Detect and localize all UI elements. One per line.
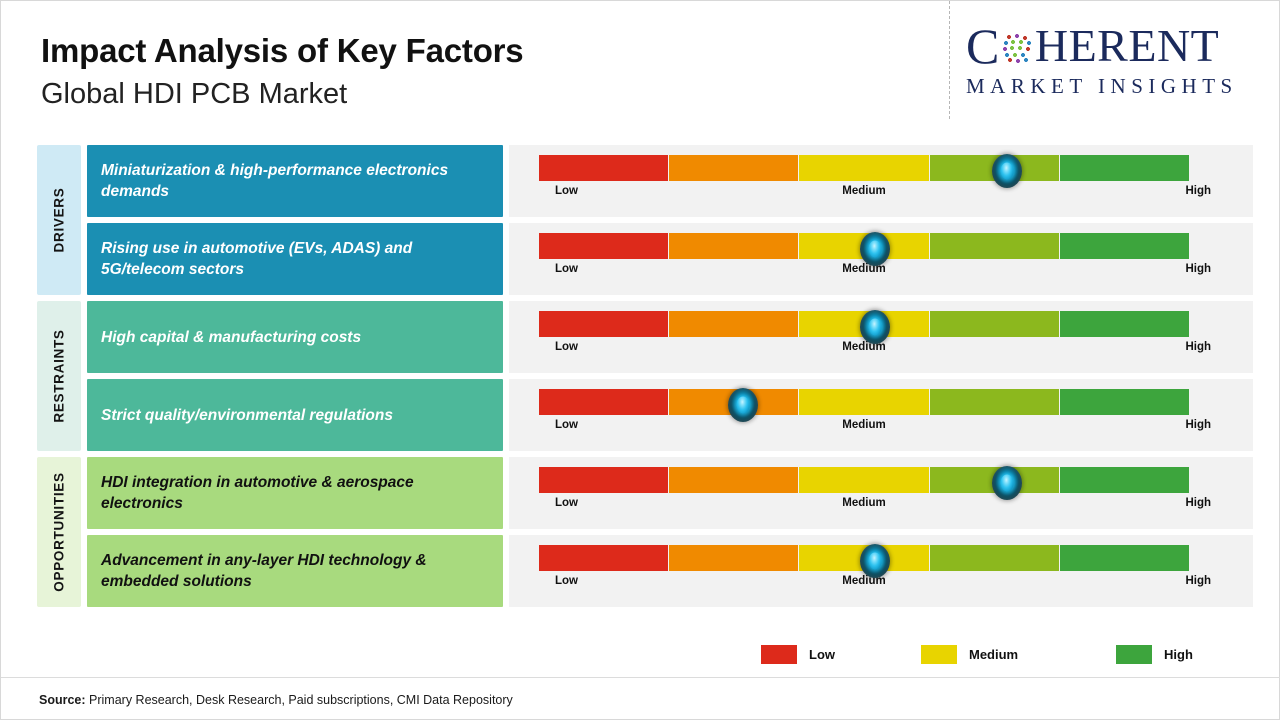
- category-label-opportunities: OPPORTUNITIES: [52, 472, 67, 591]
- legend-swatch-low: [761, 645, 797, 664]
- chart-legend: Low Medium High: [761, 645, 1221, 671]
- footer-divider: [1, 677, 1280, 678]
- segment-high: [1060, 545, 1189, 571]
- factor-box[interactable]: Strict quality/environmental regulations: [87, 379, 503, 451]
- legend-label-medium: Medium: [969, 647, 1018, 662]
- segment-medium-high: [930, 311, 1059, 337]
- segment-low: [539, 389, 668, 415]
- impact-marker[interactable]: [728, 388, 758, 422]
- legend-item-low: Low: [761, 645, 835, 664]
- source-text: Primary Research, Desk Research, Paid su…: [86, 693, 513, 707]
- page-subtitle: Global HDI PCB Market: [41, 73, 523, 115]
- scale-tick-row: Low Medium High: [539, 185, 1229, 203]
- impact-marker[interactable]: [992, 154, 1022, 188]
- legend-label-low: Low: [809, 647, 835, 662]
- segment-medium: [799, 467, 928, 493]
- factor-label: Advancement in any-layer HDI technology …: [101, 550, 489, 592]
- impact-bar-track: [539, 467, 1189, 493]
- source-label: Source:: [39, 693, 86, 707]
- logo-tagline: MARKET INSIGHTS: [966, 74, 1266, 99]
- segment-medium: [799, 155, 928, 181]
- segment-low-medium: [669, 233, 798, 259]
- dotted-globe-icon: [1001, 32, 1034, 65]
- segment-low: [539, 155, 668, 181]
- category-column-drivers: DRIVERS: [37, 145, 81, 295]
- category-column-restraints: RESTRAINTS: [37, 301, 81, 451]
- impact-marker[interactable]: [860, 232, 890, 266]
- title-block: Impact Analysis of Key Factors Global HD…: [41, 29, 523, 115]
- tick-high: High: [1185, 419, 1211, 431]
- segment-high: [1060, 467, 1189, 493]
- tick-medium: Medium: [539, 263, 1189, 275]
- impact-marker[interactable]: [860, 544, 890, 578]
- page-title: Impact Analysis of Key Factors: [41, 29, 523, 73]
- segment-high: [1060, 389, 1189, 415]
- impact-scale-row[interactable]: Low Medium High: [509, 457, 1253, 529]
- logo-wordmark-rest: HERENT: [1035, 21, 1219, 71]
- tick-medium: Medium: [539, 341, 1189, 353]
- segment-medium-high: [930, 545, 1059, 571]
- category-label-restraints: RESTRAINTS: [52, 329, 67, 422]
- factor-label: Miniaturization & high-performance elect…: [101, 160, 489, 202]
- segment-low: [539, 311, 668, 337]
- category-label-drivers: DRIVERS: [52, 188, 67, 253]
- scale-tick-row: Low Medium High: [539, 497, 1229, 515]
- tick-high: High: [1185, 575, 1211, 587]
- impact-marker[interactable]: [992, 466, 1022, 500]
- tick-high: High: [1185, 263, 1211, 275]
- infographic-page: Impact Analysis of Key Factors Global HD…: [0, 0, 1280, 720]
- factor-label: Rising use in automotive (EVs, ADAS) and…: [101, 238, 489, 280]
- category-column-opportunities: OPPORTUNITIES: [37, 457, 81, 607]
- impact-matrix: DRIVERS RESTRAINTS OPPORTUNITIES Miniatu…: [1, 139, 1280, 617]
- tick-medium: Medium: [539, 575, 1189, 587]
- segment-high: [1060, 155, 1189, 181]
- segment-low: [539, 467, 668, 493]
- impact-scale-row[interactable]: Low Medium High: [509, 145, 1253, 217]
- legend-item-medium: Medium: [921, 645, 1018, 664]
- tick-medium: Medium: [539, 497, 1189, 509]
- tick-medium: Medium: [539, 185, 1189, 197]
- factor-box[interactable]: High capital & manufacturing costs: [87, 301, 503, 373]
- scale-tick-row: Low Medium High: [539, 575, 1229, 593]
- impact-scale-row[interactable]: Low Medium High: [509, 535, 1253, 607]
- segment-medium: [799, 389, 928, 415]
- segment-high: [1060, 311, 1189, 337]
- tick-high: High: [1185, 341, 1211, 353]
- source-note: Source: Primary Research, Desk Research,…: [39, 693, 513, 707]
- segment-low-medium: [669, 311, 798, 337]
- impact-bar-track: [539, 389, 1189, 415]
- scale-tick-row: Low Medium High: [539, 341, 1229, 359]
- segment-low-medium: [669, 467, 798, 493]
- factor-box[interactable]: Advancement in any-layer HDI technology …: [87, 535, 503, 607]
- segment-low-medium: [669, 155, 798, 181]
- impact-scale-row[interactable]: Low Medium High: [509, 301, 1253, 373]
- tick-medium: Medium: [539, 419, 1189, 431]
- factor-box[interactable]: Miniaturization & high-performance elect…: [87, 145, 503, 217]
- factor-label: Strict quality/environmental regulations: [101, 405, 393, 426]
- segment-high: [1060, 233, 1189, 259]
- scale-tick-row: Low Medium High: [539, 263, 1229, 281]
- logo-letter-c: C: [966, 21, 1000, 71]
- tick-high: High: [1185, 185, 1211, 197]
- legend-label-high: High: [1164, 647, 1193, 662]
- legend-swatch-high: [1116, 645, 1152, 664]
- segment-low: [539, 545, 668, 571]
- legend-item-high: High: [1116, 645, 1193, 664]
- impact-scale-row[interactable]: Low Medium High: [509, 223, 1253, 295]
- impact-bar-track: [539, 155, 1189, 181]
- factor-box[interactable]: Rising use in automotive (EVs, ADAS) and…: [87, 223, 503, 295]
- segment-medium-high: [930, 233, 1059, 259]
- impact-marker[interactable]: [860, 310, 890, 344]
- impact-scale-row[interactable]: Low Medium High: [509, 379, 1253, 451]
- factor-label: High capital & manufacturing costs: [101, 327, 361, 348]
- segment-low: [539, 233, 668, 259]
- legend-swatch-medium: [921, 645, 957, 664]
- segment-medium-high: [930, 389, 1059, 415]
- company-logo: C HERENT MARKET INSIGHTS: [966, 21, 1266, 103]
- tick-high: High: [1185, 497, 1211, 509]
- factor-label: HDI integration in automotive & aerospac…: [101, 472, 489, 514]
- header: Impact Analysis of Key Factors Global HD…: [1, 1, 1280, 126]
- factor-box[interactable]: HDI integration in automotive & aerospac…: [87, 457, 503, 529]
- scale-tick-row: Low Medium High: [539, 419, 1229, 437]
- logo-wordmark: C HERENT: [966, 21, 1266, 71]
- header-divider: [949, 1, 950, 119]
- segment-low-medium: [669, 545, 798, 571]
